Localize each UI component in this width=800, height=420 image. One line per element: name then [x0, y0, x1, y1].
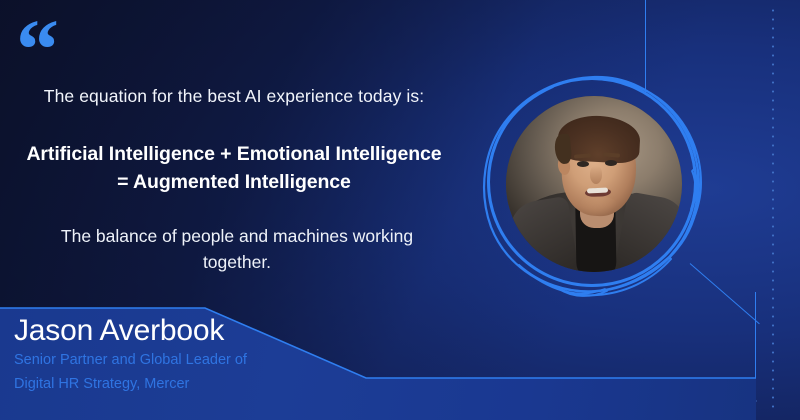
dotted-line-vertical: [772, 6, 774, 414]
photo-eye-right: [605, 160, 617, 166]
portrait-photo: [506, 96, 682, 272]
speaker-role-line-2: Digital HR Strategy, Mercer: [14, 371, 374, 395]
speaker-role-line-1: Senior Partner and Global Leader of: [14, 347, 374, 371]
quote-equation-line-1: Artificial Intelligence + Emotional Inte…: [8, 107, 460, 169]
quote-card: “ The equation for the best AI experienc…: [0, 0, 800, 420]
open-quote-icon: “: [16, 6, 57, 92]
photo-eye-left: [577, 161, 589, 167]
quote-equation-line-2: = Augmented Intelligence: [8, 169, 460, 197]
quote-lead-line: The equation for the best AI experience …: [8, 86, 460, 107]
photo-chin: [578, 196, 618, 216]
photo-nose: [590, 166, 602, 184]
speaker-name: Jason Averbook: [14, 315, 374, 347]
speaker-portrait: [487, 77, 703, 293]
attribution: Jason Averbook Senior Partner and Global…: [14, 315, 374, 395]
quote-text-block: The equation for the best AI experience …: [8, 86, 460, 276]
quote-tail-line: The balance of people and machines worki…: [8, 196, 460, 276]
